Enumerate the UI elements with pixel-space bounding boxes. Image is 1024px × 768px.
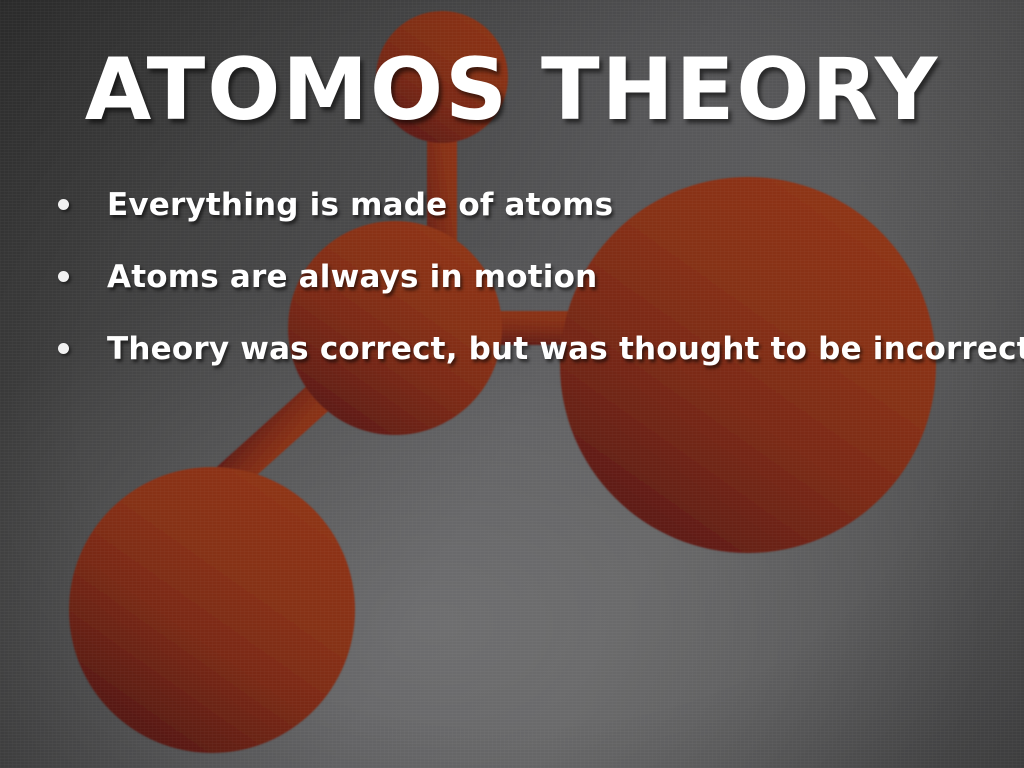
list-item: Atoms are always in motion: [58, 258, 1008, 296]
slide-canvas: ATOMOS THEORY Everything is made of atom…: [0, 0, 1024, 768]
bullet-text-2: Atoms are always in motion: [107, 258, 597, 296]
bullet-list: Everything is made of atoms Atoms are al…: [58, 186, 1008, 402]
bullet-marker-icon: [58, 343, 69, 354]
bullet-text-1: Everything is made of atoms: [107, 186, 613, 224]
bullet-text-3: Theory was correct, but was thought to b…: [107, 330, 1024, 368]
slide-text-layer: ATOMOS THEORY Everything is made of atom…: [0, 0, 1024, 768]
bullet-marker-icon: [58, 271, 69, 282]
bullet-marker-icon: [58, 199, 69, 210]
list-item: Theory was correct, but was thought to b…: [58, 330, 1008, 368]
page-title: ATOMOS THEORY: [0, 42, 1024, 138]
list-item: Everything is made of atoms: [58, 186, 1008, 224]
